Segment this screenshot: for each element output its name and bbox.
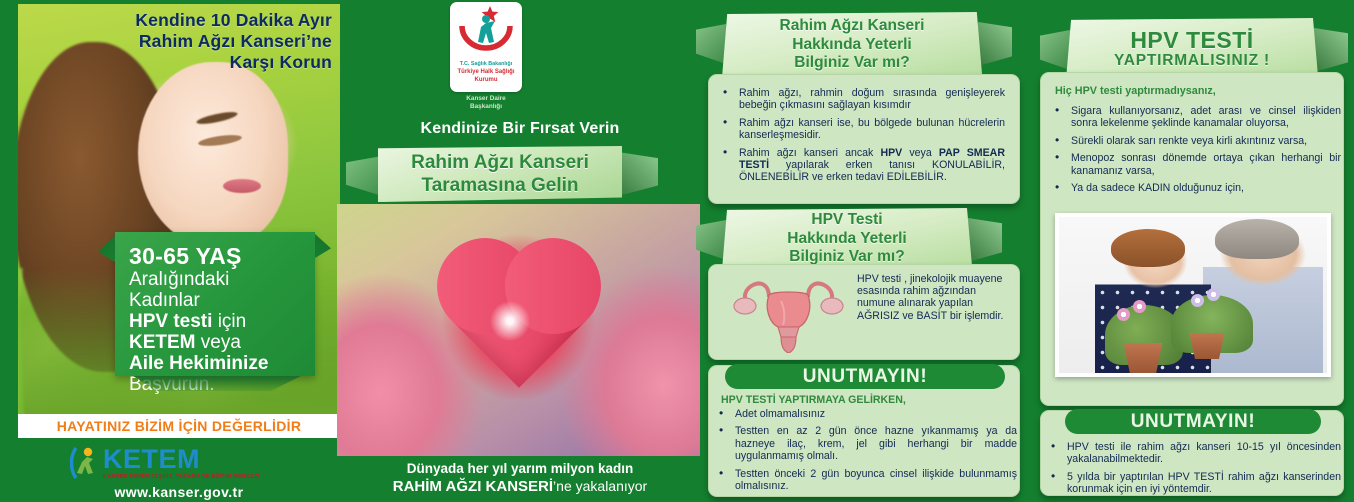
reminder-bullet-list: HPV testi ile rahim ağzı kanseri 10-15 y… xyxy=(1041,441,1341,501)
list-item: Testten önceki 2 gün boyunca cinsel iliş… xyxy=(709,468,1017,493)
bullet3-text-1: Rahim ağzı kanseri ancak xyxy=(739,147,880,159)
hpv-test-suffix: için xyxy=(212,311,246,332)
list-item: HPV testi ile rahim ağzı kanseri 10-15 y… xyxy=(1041,441,1341,466)
ministry-line-2: Türkiye Halk Sağlığı xyxy=(450,69,522,77)
panel-invitation: T.C. Sağlık Bakanlığı Türkiye Halk Sağlı… xyxy=(340,0,700,502)
list-item: Sigara kullanıyorsanız, adet arası ve ci… xyxy=(1045,105,1341,130)
list-item: Rahim ağzı, rahmin doğum sırasında geniş… xyxy=(713,87,1005,112)
age-range-callout-box: 30-65 YAŞ Aralığındaki Kadınlar HPV test… xyxy=(115,232,315,376)
age-range-line-3: Kadınlar xyxy=(129,290,305,311)
ribbon-line-2: YAPTIRMALISINIZ ! xyxy=(1114,52,1270,70)
ribbon-line-1: HPV TESTİ xyxy=(1130,28,1253,52)
ribbon-text: Rahim Ağzı Kanseri Hakkında Yeterli Bilg… xyxy=(722,12,982,78)
ribbon-line-3: Bilginiz Var mı? xyxy=(794,54,909,73)
risk-factors-bullet-list: Sigara kullanıyorsanız, adet arası ve ci… xyxy=(1045,105,1341,199)
ribbon-line-2: Hakkında Yeterli xyxy=(792,36,911,55)
flower-bloom xyxy=(1207,288,1220,301)
reminder-title-badge: UNUTMAYIN! xyxy=(1065,409,1321,434)
lips-shape xyxy=(223,179,261,193)
cervical-cancer-info-card: Rahim ağzı, rahmin doğum sırasında geniş… xyxy=(708,74,1020,204)
ministry-line-1: T.C. Sağlık Bakanlığı xyxy=(450,61,522,67)
screening-invite-ribbon: Rahim Ağzı Kanseri Taramasına Gelin xyxy=(378,146,622,202)
bullet3-bold-hpv: HPV xyxy=(880,147,902,159)
footer-line-2: RAHİM AĞZI KANSERİ’ne yakalanıyor xyxy=(340,477,700,496)
ketem-figure-icon xyxy=(70,446,100,480)
hpv-test-description-card: HPV testi , jinekolojik muayene esasında… xyxy=(708,264,1020,360)
brochure-canvas: Kendine 10 Dakika Ayır Rahim Ağzı Kanser… xyxy=(0,0,1354,502)
ministry-of-health-logo: T.C. Sağlık Bakanlığı Türkiye Halk Sağlı… xyxy=(450,2,522,92)
ketem-logo-block: KETEM KANSER ERKEN TEŞHİS, TARAMA VE EĞİ… xyxy=(18,444,340,502)
ketem-suffix: veya xyxy=(196,332,241,353)
ribbon-text: HPV TESTİ YAPTIRMALISINIZ ! xyxy=(1066,18,1318,80)
sparkle-highlight xyxy=(487,298,533,344)
ministry-line-2-3: Türkiye Halk Sağlığı Kurumu xyxy=(450,69,522,84)
list-item: 5 yılda bir yaptırılan HPV TESTİ rahim a… xyxy=(1041,471,1341,496)
ketem-label: KETEM xyxy=(129,332,196,353)
website-url[interactable]: www.kanser.gov.tr xyxy=(18,484,340,500)
reminder-title-badge: UNUTMAYIN! xyxy=(725,364,1005,389)
bullet3-text-3: yapılarak erken tanısı KONULABİLİR, ÖNLE… xyxy=(739,159,1005,183)
list-item: Sürekli olarak sarı renkte veya kirli ak… xyxy=(1045,135,1341,147)
list-item: Menopoz sonrası dönemde ortaya çıkan her… xyxy=(1045,152,1341,177)
ribbon-line-2: Hakkında Yeterli xyxy=(787,230,906,249)
reminder-card-panel3: UNUTMAYIN! HPV TESTİ YAPTIRMAYA GELİRKEN… xyxy=(708,365,1020,497)
uterus-diagram-icon xyxy=(721,275,856,353)
list-item: Ya da sadece KADIN olduğunuz için, xyxy=(1045,182,1341,194)
man-hair xyxy=(1215,219,1299,259)
headline-line-2: Rahim Ağzı Kanseri’ne xyxy=(56,31,332,52)
age-range-line-4: HPV testi için xyxy=(129,311,305,332)
list-item: Rahim ağzı kanseri ancak HPV veya PAP SM… xyxy=(713,147,1005,184)
ministry-department-caption: Kanser Daire Başkanlığı xyxy=(436,95,536,111)
couple-with-flowers-photo xyxy=(1055,213,1331,377)
reminder-card-panel4: UNUTMAYIN! HPV testi ile rahim ağzı kans… xyxy=(1040,410,1344,496)
ketem-logo-subtitle: KANSER ERKEN TEŞHİS, TARAMA VE EĞİTİM ME… xyxy=(103,474,260,480)
ribbon-text: HPV Testi Hakkında Yeterli Bilginiz Var … xyxy=(722,208,972,270)
cervical-cancer-bullet-list: Rahim ağzı, rahmin doğum sırasında geniş… xyxy=(713,87,1005,184)
footer-line-2-suffix: ’ne yakalanıyor xyxy=(553,478,647,494)
woman-hair xyxy=(1111,229,1185,267)
footer-disease-name: RAHİM AĞZI KANSERİ xyxy=(393,478,553,495)
panel-awareness: Kendine 10 Dakika Ayır Rahim Ağzı Kanser… xyxy=(0,0,340,502)
ribbon-line-1: Rahim Ağzı Kanseri xyxy=(780,17,925,36)
panel-call-to-action: HPV TESTİ YAPTIRMALISINIZ ! Hiç HPV test… xyxy=(1030,0,1354,502)
headline-line-1: Kendine 10 Dakika Ayır xyxy=(56,10,332,31)
reminder-lead-text: HPV TESTİ YAPTIRMAYA GELİRKEN, xyxy=(721,394,906,406)
flower-bloom xyxy=(1191,294,1204,307)
ribbon-wing-right xyxy=(1314,28,1348,72)
face-shape xyxy=(138,62,288,247)
ribbon-wing-right xyxy=(968,218,1002,262)
ribbon-text: Rahim Ağzı Kanseri Taramasına Gelin xyxy=(378,146,622,202)
department-line-1: Kanser Daire xyxy=(436,95,536,103)
age-range-value: 30-65 YAŞ xyxy=(129,244,305,269)
age-range-line-6: Aile Hekiminize xyxy=(129,353,305,374)
tagline-text: HAYATINIZ BİZİM İÇİN DEĞERLİDİR xyxy=(57,418,301,434)
ribbon-wing-right xyxy=(618,152,658,196)
ketem-logo: KETEM KANSER ERKEN TEŞHİS, TARAMA VE EĞİ… xyxy=(70,446,260,480)
reminder-bullet-list: Adet olmamalısınız Testten en az 2 gün ö… xyxy=(709,408,1017,497)
ribbon-line-1: Rahim Ağzı Kanseri xyxy=(411,151,589,174)
flower-bloom xyxy=(1117,308,1130,321)
hpv-test-info-ribbon: HPV Testi Hakkında Yeterli Bilginiz Var … xyxy=(722,208,972,270)
footer-line-1: Dünyada her yıl yarım milyon kadın xyxy=(340,461,700,477)
ribbon-line-1: HPV Testi xyxy=(811,211,882,230)
risk-factors-card: Hiç HPV testi yaptırmadıysanız, Sigara k… xyxy=(1040,72,1344,406)
panel2-footer-text: Dünyada her yıl yarım milyon kadın RAHİM… xyxy=(340,461,700,496)
hpv-test-label: HPV testi xyxy=(129,311,212,332)
ministry-line-3: Kurumu xyxy=(450,77,522,85)
panel-information: Rahim Ağzı Kanseri Hakkında Yeterli Bilg… xyxy=(700,0,1030,502)
headline-line-3: Karşı Korun xyxy=(56,52,332,73)
tagline-bar: HAYATINIZ BİZİM İÇİN DEĞERLİDİR xyxy=(18,414,340,438)
ketem-wordmark: KETEM xyxy=(103,446,260,473)
hands-holding-heart-photo xyxy=(337,204,700,456)
age-range-line-5: KETEM veya xyxy=(129,332,305,353)
cervical-cancer-info-ribbon: Rahim Ağzı Kanseri Hakkında Yeterli Bilg… xyxy=(722,12,982,78)
list-item: Testten en az 2 gün önce hazne yıkanmamı… xyxy=(709,425,1017,462)
hpv-test-cta-ribbon: HPV TESTİ YAPTIRMALISINIZ ! xyxy=(1066,18,1318,80)
age-range-line-2: Aralığındaki xyxy=(129,269,305,290)
ribbon-line-2: Taramasına Gelin xyxy=(422,174,579,197)
list-item: Rahim ağzı kanseri ise, bu bölgede bulun… xyxy=(713,117,1005,142)
ribbon-wing-right xyxy=(978,22,1012,66)
risk-factors-lead-text: Hiç HPV testi yaptırmadıysanız, xyxy=(1055,85,1216,97)
list-item: Adet olmamalısınız xyxy=(709,408,1017,420)
hpv-test-description-text: HPV testi , jinekolojik muayene esasında… xyxy=(857,273,1015,322)
department-line-2: Başkanlığı xyxy=(436,103,536,111)
flower-bloom xyxy=(1133,300,1146,313)
panel2-subheadline: Kendinize Bir Fırsat Verin xyxy=(340,120,700,138)
bullet3-text-2: veya xyxy=(902,147,939,159)
ribbon-wing-left xyxy=(346,156,382,196)
panel1-headline: Kendine 10 Dakika Ayır Rahim Ağzı Kanser… xyxy=(56,10,332,73)
